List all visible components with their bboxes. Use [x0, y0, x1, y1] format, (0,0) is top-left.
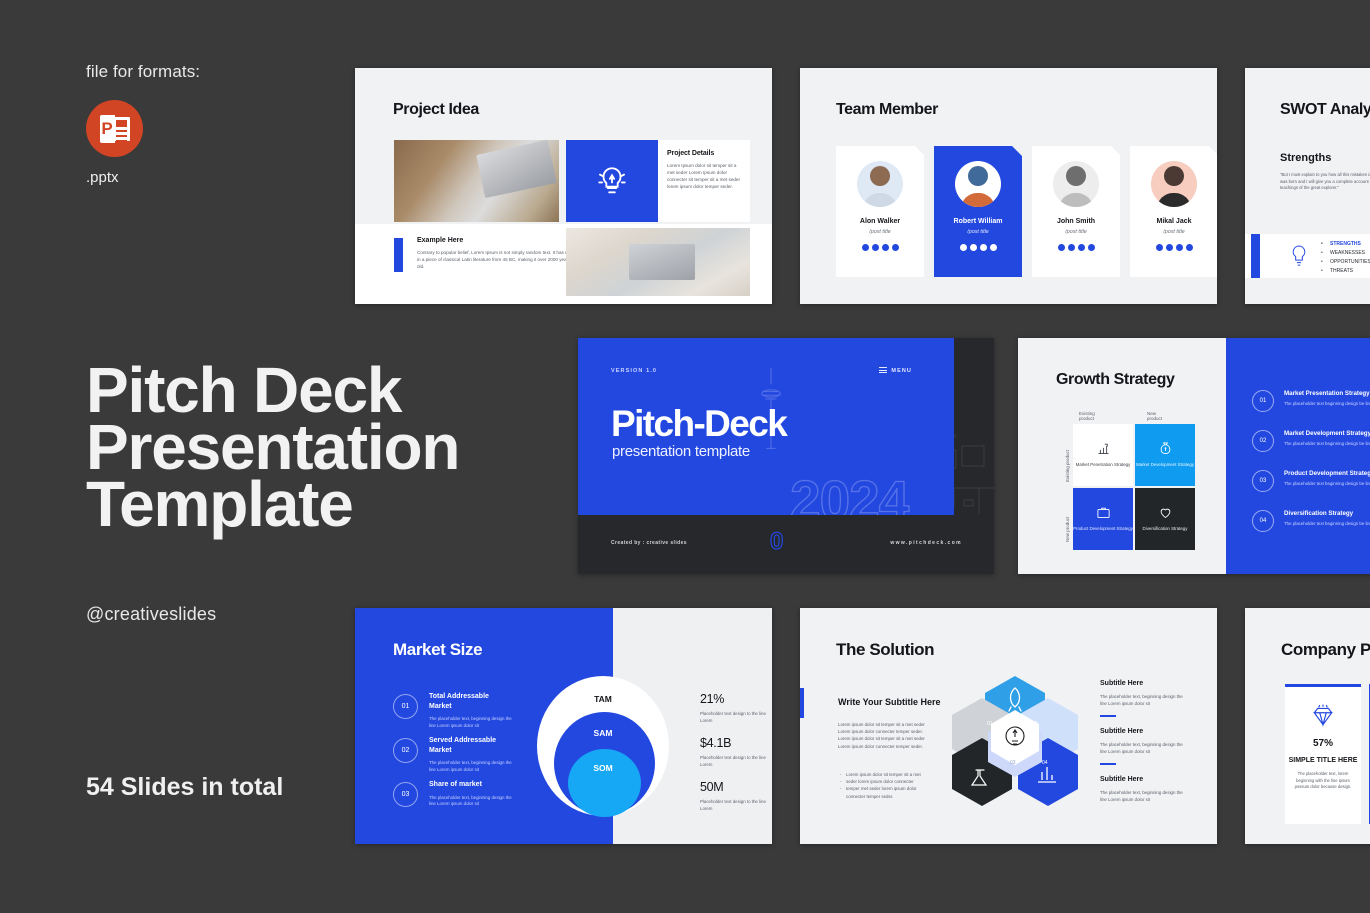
social-icons[interactable]	[960, 244, 997, 251]
lightbulb-icon	[566, 140, 658, 222]
slide-pitch-deck-cover[interactable]: VERSION 1.0 MENU Pitch-Deck presentation…	[578, 338, 994, 574]
menu-label: MENU	[891, 368, 912, 374]
solution-block: Subtitle Here The placeholder text, begi…	[1100, 776, 1188, 803]
avatar	[1053, 161, 1099, 207]
matrix-col-header: New product	[1147, 411, 1162, 421]
hex-number: 03	[1010, 760, 1016, 766]
divider	[1100, 715, 1116, 717]
linkedin-icon[interactable]	[1186, 244, 1193, 251]
solution-block: Subtitle Here The placeholder text, begi…	[1100, 728, 1188, 765]
stat-value: 50M	[700, 780, 772, 794]
money-bag-icon	[1158, 441, 1173, 456]
slide-company-profile[interactable]: Company Profile 57% SIMPLE TITLE HERE Th…	[1245, 608, 1370, 844]
slide-title-growth-strategy: Growth Strategy	[1056, 371, 1174, 389]
member-post: /post title	[1065, 229, 1087, 235]
linkedin-icon[interactable]	[892, 244, 899, 251]
item-number: 02	[1252, 430, 1274, 452]
slide-title-market-size: Market Size	[393, 640, 482, 660]
growth-item[interactable]: 01 Market Presentation Strategy The plac…	[1252, 390, 1370, 412]
year-watermark: 2024	[790, 468, 908, 515]
facebook-icon[interactable]	[862, 244, 869, 251]
slide-title-company-profile: Company Profile	[1281, 640, 1370, 660]
bar-chart-growth-icon	[1096, 441, 1111, 456]
file-extension-label: .pptx	[86, 169, 356, 186]
twitter-icon[interactable]	[872, 244, 879, 251]
growth-item[interactable]: 04 Diversification Strategy The placehol…	[1252, 510, 1370, 532]
page-number: 0	[770, 528, 783, 556]
market-stat: 50M Placeholder text design to the line …	[700, 780, 772, 812]
solution-block: Subtitle Here The placeholder text, begi…	[1100, 680, 1188, 717]
accent-bar	[1251, 234, 1260, 278]
formats-block: file for formats: P .pptx	[86, 62, 356, 186]
solution-subtitle: Write Your Subtitle Here	[838, 696, 941, 709]
facebook-icon[interactable]	[1156, 244, 1163, 251]
swot-item: OPPORTUNITIES	[1321, 258, 1370, 267]
swot-subtitle: Strengths	[1280, 152, 1331, 164]
growth-matrix-panel: Growth Strategy Existing product New pro…	[1018, 338, 1223, 574]
twitter-icon[interactable]	[970, 244, 977, 251]
example-heading: Example Here	[417, 237, 577, 244]
growth-item[interactable]: 02 Market Development Strategy The place…	[1252, 430, 1370, 452]
cover-title: Pitch-Deck	[611, 404, 786, 444]
slide-market-size[interactable]: Market Size 01 Total Addressable Market …	[355, 608, 772, 844]
bullet-item: temper met seder lorem ipsum dolor conne…	[840, 785, 936, 799]
stat-heading: SIMPLE TITLE HERE	[1289, 756, 1358, 765]
ppt-doc-shape	[113, 117, 130, 141]
divider	[1100, 763, 1116, 765]
item-number: 04	[1252, 510, 1274, 532]
member-name: Alon Walker	[860, 218, 900, 225]
matrix-row-header: New product	[1065, 517, 1070, 542]
item-body: The placeholder text beginning design be…	[1284, 481, 1370, 488]
project-details-body: Lorem Ipsum dolor sit temper sit a met s…	[667, 162, 741, 190]
cover-subtitle: presentation template	[612, 443, 750, 460]
facebook-icon[interactable]	[1058, 244, 1065, 251]
social-icons[interactable]	[1058, 244, 1095, 251]
member-name: John Smith	[1057, 218, 1095, 225]
item-number: 01	[393, 694, 418, 719]
member-name: Robert William	[954, 218, 1003, 225]
item-number: 02	[393, 738, 418, 763]
market-item[interactable]: 02 Served Addressable Market The placeho…	[393, 736, 519, 773]
company-stat-card[interactable]: 57% SIMPLE TITLE HERE The placeholder te…	[1285, 684, 1361, 824]
desk-photo	[394, 140, 559, 222]
linkedin-icon[interactable]	[1088, 244, 1095, 251]
item-body: The placeholder text beginning design be…	[1284, 401, 1370, 408]
block-heading: Subtitle Here	[1100, 680, 1188, 687]
matrix-cell-product-development[interactable]: Product Development Strategy	[1073, 488, 1133, 550]
page-title-line3: Template	[86, 476, 459, 533]
cover-footer: Created by : creative slides 0 www.pitch…	[578, 515, 994, 574]
slide-title-project-idea: Project Idea	[393, 101, 479, 119]
block-heading: Subtitle Here	[1100, 728, 1188, 735]
som-label: SOM	[537, 763, 669, 773]
item-body: The placeholder text beginning design be…	[1284, 521, 1370, 528]
hexagon-cluster-diagram: 01 02 03 04	[950, 674, 1080, 809]
facebook-icon[interactable]	[960, 244, 967, 251]
instagram-icon[interactable]	[882, 244, 889, 251]
instagram-icon[interactable]	[1078, 244, 1085, 251]
social-icons[interactable]	[1156, 244, 1193, 251]
tam-label: TAM	[537, 694, 669, 704]
stat-percent: 57%	[1313, 738, 1333, 749]
hex-number: 04	[1042, 760, 1048, 766]
bullet-item: Lorem ipsum dolor sit temper sit a met	[840, 771, 936, 778]
item-heading: Served Addressable Market	[429, 736, 501, 755]
slide-project-idea[interactable]: Project Idea Project Details Lorem Ipsum…	[355, 68, 772, 304]
market-stat: $4.1B Placeholder text design to the lin…	[700, 736, 772, 768]
hamburger-icon[interactable]	[879, 367, 887, 375]
slide-title-the-solution: The Solution	[836, 640, 934, 660]
bullet-item: seder lorem ipsum dolor connecter	[840, 778, 936, 785]
som-circle	[568, 749, 641, 817]
matrix-cell-label: Market Development Strategy	[1136, 462, 1194, 469]
item-body: The placeholder text, beginning design t…	[429, 760, 519, 773]
item-number: 03	[393, 782, 418, 807]
market-item[interactable]: 01 Total Addressable Market The placehol…	[393, 692, 519, 729]
matrix-row-header: Existing product	[1065, 450, 1070, 482]
slide-the-solution[interactable]: The Solution Write Your Subtitle Here Lo…	[800, 608, 1217, 844]
instagram-icon[interactable]	[1176, 244, 1183, 251]
team-card[interactable]: John Smith /post title	[1032, 146, 1120, 277]
stat-value: 21%	[700, 692, 772, 706]
swot-list: STRENGTHS WEAKNESSES OPPORTUNITIES THREA…	[1321, 240, 1370, 276]
linkedin-icon[interactable]	[990, 244, 997, 251]
diamond-icon	[1310, 703, 1336, 729]
block-body: The placeholder text, beginning design t…	[1100, 741, 1188, 755]
matrix-cell-market-development[interactable]: Market Development Strategy	[1135, 424, 1195, 486]
project-example-band: Example Here Contrary to popular belief,…	[355, 224, 772, 304]
matrix-cell-label: Product Development Strategy	[1073, 526, 1133, 533]
hex-number: 02	[1032, 721, 1038, 727]
menu-button[interactable]: MENU	[879, 367, 912, 375]
solution-bullets: Lorem ipsum dolor sit temper sit a met s…	[840, 771, 936, 800]
growth-items-panel: 01 Market Presentation Strategy The plac…	[1226, 338, 1370, 574]
team-card[interactable]: Robert William /post title	[934, 146, 1022, 277]
item-body: The placeholder text beginning design be…	[1284, 441, 1370, 448]
team-card[interactable]: Mikal Jack /post title	[1130, 146, 1217, 277]
block-heading: Subtitle Here	[1100, 776, 1188, 783]
nested-circles-diagram: TAM SAM SOM	[537, 676, 669, 816]
item-number: 03	[1252, 470, 1274, 492]
team-card[interactable]: Alon Walker /post title	[836, 146, 924, 277]
project-details-card: Project Details Lorem Ipsum dolor sit te…	[658, 140, 750, 222]
avatar	[1151, 161, 1197, 207]
page-title: Pitch Deck Presentation Template	[86, 362, 459, 533]
poster-canvas: file for formats: P .pptx Pitch Deck Pre…	[0, 0, 1370, 913]
solution-body: Lorem ipsum dolor sit temper sit a met s…	[838, 721, 936, 750]
avatar	[857, 161, 903, 207]
twitter-icon[interactable]	[1068, 244, 1075, 251]
slides-count-label: 54 Slides in total	[86, 773, 286, 801]
accent-tab	[800, 688, 804, 718]
stat-value: $4.1B	[700, 736, 772, 750]
project-details-heading: Project Details	[667, 150, 741, 157]
instagram-icon[interactable]	[980, 244, 987, 251]
website-url: www.pitchdeck.com	[890, 540, 962, 546]
credit-label: Created by : creative slides	[611, 540, 687, 546]
slide-growth-strategy[interactable]: Growth Strategy Existing product New pro…	[1018, 338, 1370, 574]
swot-item: THREATS	[1321, 267, 1370, 276]
briefcase-icon	[1096, 505, 1111, 520]
matrix-cell-diversification[interactable]: Diversification Strategy	[1135, 488, 1195, 550]
slide-team-member[interactable]: Team Member Alon Walker /post title Robe…	[800, 68, 1217, 304]
matrix-cell-market-penetration[interactable]: Market Penetration Strategy	[1073, 424, 1133, 486]
growth-item[interactable]: 03 Product Development Strategy The plac…	[1252, 470, 1370, 492]
item-heading: Market Development Strategy	[1284, 430, 1370, 437]
social-icons[interactable]	[862, 244, 899, 251]
item-number: 01	[1252, 390, 1274, 412]
item-body: The placeholder text, beginning design t…	[429, 795, 519, 808]
block-body: The placeholder text, beginning design t…	[1100, 693, 1188, 707]
accent-bar	[394, 238, 403, 272]
member-name: Mikal Jack	[1156, 218, 1191, 225]
slide-title-team-member: Team Member	[836, 101, 938, 119]
heart-icon	[1158, 505, 1173, 520]
market-stat: 21% Placeholder text design to the line …	[700, 692, 772, 724]
swot-item: WEAKNESSES	[1321, 249, 1370, 258]
item-heading: Total Addressable Market	[429, 692, 501, 711]
example-body: Contrary to popular belief, Lorem Ipsum …	[417, 249, 577, 270]
lightbulb-icon	[1289, 243, 1309, 269]
block-body: The placeholder text, beginning design t…	[1100, 789, 1188, 803]
slide-swot-analysis[interactable]: SWOT Analysis Strengths "But I must expl…	[1245, 68, 1370, 304]
workspace-photo	[566, 228, 750, 296]
matrix-col-header: Existing product	[1079, 411, 1095, 421]
member-post: /post title	[1163, 229, 1185, 235]
hex-number: 01	[987, 721, 993, 727]
slide-title-swot: SWOT Analysis	[1280, 101, 1370, 119]
member-post: /post title	[869, 229, 891, 235]
stat-body: The placeholder text, lorem beginning wi…	[1294, 771, 1352, 791]
item-heading: Diversification Strategy	[1284, 510, 1370, 517]
cover-blue-panel: VERSION 1.0 MENU Pitch-Deck presentation…	[578, 338, 954, 515]
formats-label: file for formats:	[86, 62, 356, 82]
member-post: /post title	[967, 229, 989, 235]
matrix-cell-label: Market Penetration Strategy	[1076, 462, 1131, 469]
version-label: VERSION 1.0	[611, 368, 657, 374]
matrix-cell-label: Diversification Strategy	[1143, 526, 1188, 533]
stat-body: Placeholder text design to the line Lore…	[700, 799, 772, 812]
author-handle: @creativeslides	[86, 604, 216, 625]
item-heading: Share of market	[429, 780, 501, 790]
sam-label: SAM	[537, 728, 669, 738]
swot-body: "But I must explain to you how all this …	[1280, 172, 1370, 192]
stat-body: Placeholder text design to the line Lore…	[700, 711, 772, 724]
swot-item: STRENGTHS	[1321, 240, 1370, 249]
swot-list-band: STRENGTHS WEAKNESSES OPPORTUNITIES THREA…	[1245, 234, 1370, 278]
item-body: The placeholder text, beginning design t…	[429, 716, 519, 729]
item-heading: Market Presentation Strategy	[1284, 390, 1370, 397]
avatar	[955, 161, 1001, 207]
powerpoint-icon: P	[86, 100, 143, 157]
team-card-row: Alon Walker /post title Robert William /…	[836, 146, 1217, 277]
market-item[interactable]: 03 Share of market The placeholder text,…	[393, 780, 519, 808]
item-heading: Product Development Strategy	[1284, 470, 1370, 477]
twitter-icon[interactable]	[1166, 244, 1173, 251]
stat-body: Placeholder text design to the line Lore…	[700, 755, 772, 768]
